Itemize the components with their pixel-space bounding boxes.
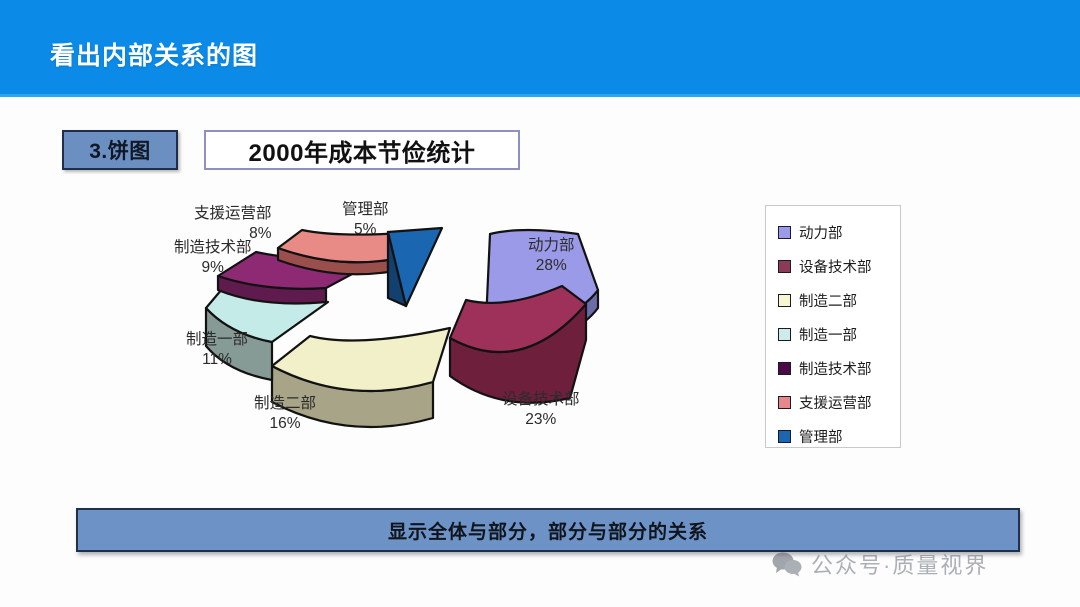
legend-item-zhizao-yi-bu: 制造一部 — [778, 317, 900, 351]
legend-item-label: 制造二部 — [799, 290, 857, 311]
legend-item-label: 管理部 — [799, 426, 843, 447]
legend-item-zhizao-jishu-bu: 制造技术部 — [778, 351, 900, 385]
chart-title-box: 2000年成本节俭统计 — [204, 130, 520, 170]
footer-banner-text: 显示全体与部分，部分与部分的关系 — [388, 517, 708, 544]
pie-label-zhizao-er-bu: 制造二部 16% — [254, 394, 316, 434]
legend-swatch-icon — [778, 226, 791, 239]
legend-item-label: 动力部 — [799, 222, 843, 243]
legend-item-label: 支援运营部 — [799, 392, 872, 413]
legend-item-label: 设备技术部 — [799, 256, 872, 277]
wechat-icon — [772, 551, 802, 577]
legend-swatch-icon — [778, 362, 791, 375]
legend-item-zhiyuan-yunying-bu: 支援运营部 — [778, 385, 900, 419]
pie-chart: .sl { stroke:#121212; stroke-width:2.2; … — [150, 190, 770, 470]
pie-slice-guanli-bu — [388, 228, 442, 306]
legend-item-label: 制造技术部 — [799, 358, 872, 379]
section-tag-label: 3.饼图 — [89, 135, 151, 165]
pie-slice-shebei-jishu-bu — [450, 286, 586, 403]
header-underline — [0, 94, 1080, 97]
legend-swatch-icon — [778, 328, 791, 341]
chart-legend: 动力部 设备技术部 制造二部 制造一部 制造技术部 支援运营部 管理部 — [765, 205, 901, 448]
pie-label-dongli-bu: 动力部 28% — [528, 236, 575, 276]
slide-canvas: 看出内部关系的图 3.饼图 2000年成本节俭统计 .sl { stroke:#… — [0, 0, 1080, 607]
pie-label-zhizao-jishu-bu: 制造技术部 9% — [174, 238, 252, 278]
section-tag: 3.饼图 — [62, 130, 178, 170]
pie-label-zhizao-yi-bu: 制造一部 11% — [186, 330, 248, 370]
chart-title-label: 2000年成本节俭统计 — [249, 133, 476, 168]
watermark: 公众号·质量视界 — [772, 548, 988, 580]
legend-swatch-icon — [778, 430, 791, 443]
legend-swatch-icon — [778, 396, 791, 409]
legend-item-dongli-bu: 动力部 — [778, 215, 900, 249]
legend-swatch-icon — [778, 260, 791, 273]
pie-label-guanli-bu: 管理部 5% — [342, 200, 389, 240]
legend-item-zhizao-er-bu: 制造二部 — [778, 283, 900, 317]
legend-item-guanli-bu: 管理部 — [778, 419, 900, 453]
pie-label-shebei-jishu-bu: 设备技术部 23% — [502, 390, 580, 430]
watermark-text: 公众号·质量视界 — [811, 548, 988, 580]
legend-swatch-icon — [778, 294, 791, 307]
footer-banner: 显示全体与部分，部分与部分的关系 — [76, 508, 1020, 552]
legend-item-shebei-jishu-bu: 设备技术部 — [778, 249, 900, 283]
legend-item-label: 制造一部 — [799, 324, 857, 345]
page-title: 看出内部关系的图 — [50, 36, 258, 72]
